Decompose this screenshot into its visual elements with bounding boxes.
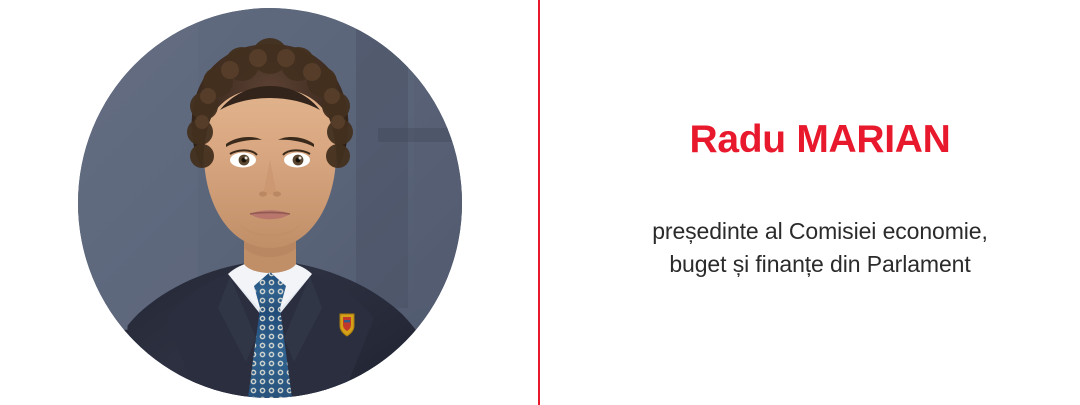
speaker-info: Radu MARIAN președinte al Comisiei econo…: [560, 0, 1080, 405]
person-name: Radu MARIAN: [689, 118, 950, 163]
portrait-illustration: [78, 8, 462, 398]
person-role: președinte al Comisiei economie, buget ș…: [652, 215, 988, 282]
person-role-line-2: buget și finanțe din Parlament: [652, 248, 988, 281]
speaker-card: Radu MARIAN președinte al Comisiei econo…: [0, 0, 1080, 405]
person-role-line-1: președinte al Comisiei economie,: [652, 215, 988, 248]
vertical-divider: [538, 0, 540, 405]
portrait-photo: [78, 8, 462, 398]
